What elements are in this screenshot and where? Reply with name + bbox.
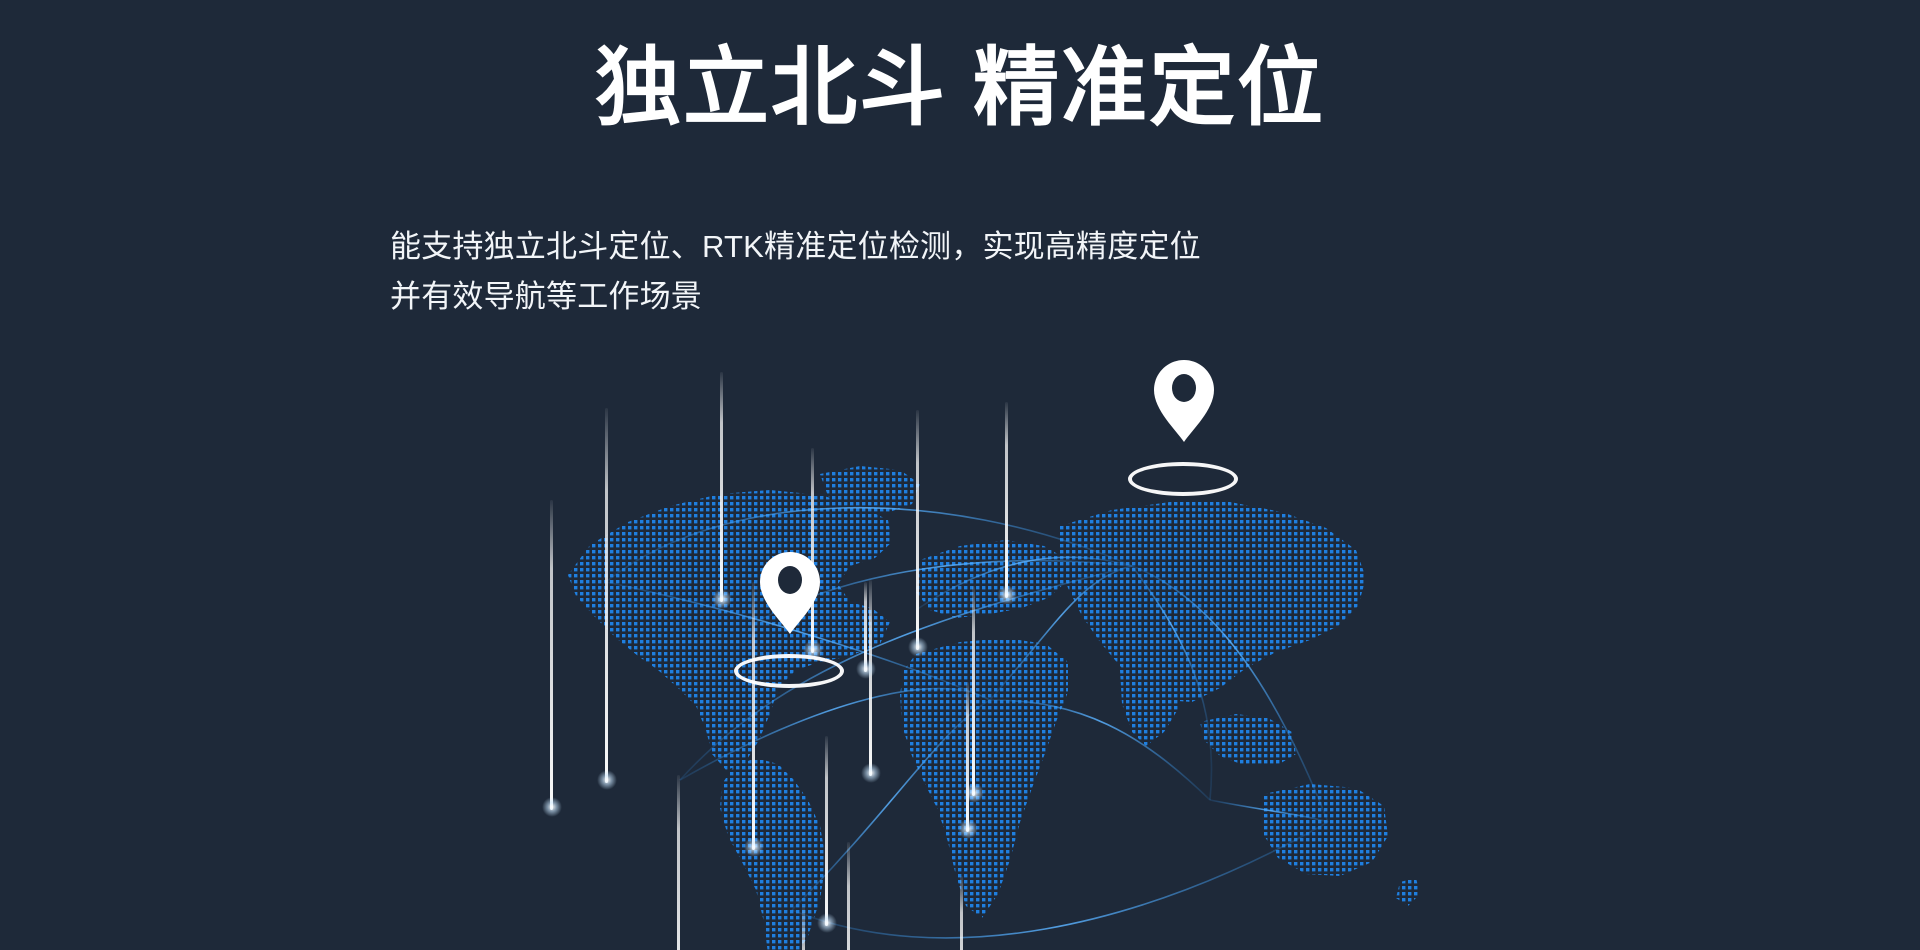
world-map-graphic [520,370,1420,950]
page-title: 独立北斗 精准定位 [0,38,1920,139]
promo-banner: 独立北斗 精准定位 能支持独立北斗定位、RTK精准定位检测，实现高精度定位 并有… [0,0,1920,950]
subtitle-block: 能支持独立北斗定位、RTK精准定位检测，实现高精度定位 并有效导航等工作场景 [390,222,1201,322]
subtitle-line-2: 并有效导航等工作场景 [390,272,1201,322]
dotted-world-map-svg [520,370,1420,950]
continent-dots [520,370,1420,950]
subtitle-line-1: 能支持独立北斗定位、RTK精准定位检测，实现高精度定位 [390,222,1201,272]
